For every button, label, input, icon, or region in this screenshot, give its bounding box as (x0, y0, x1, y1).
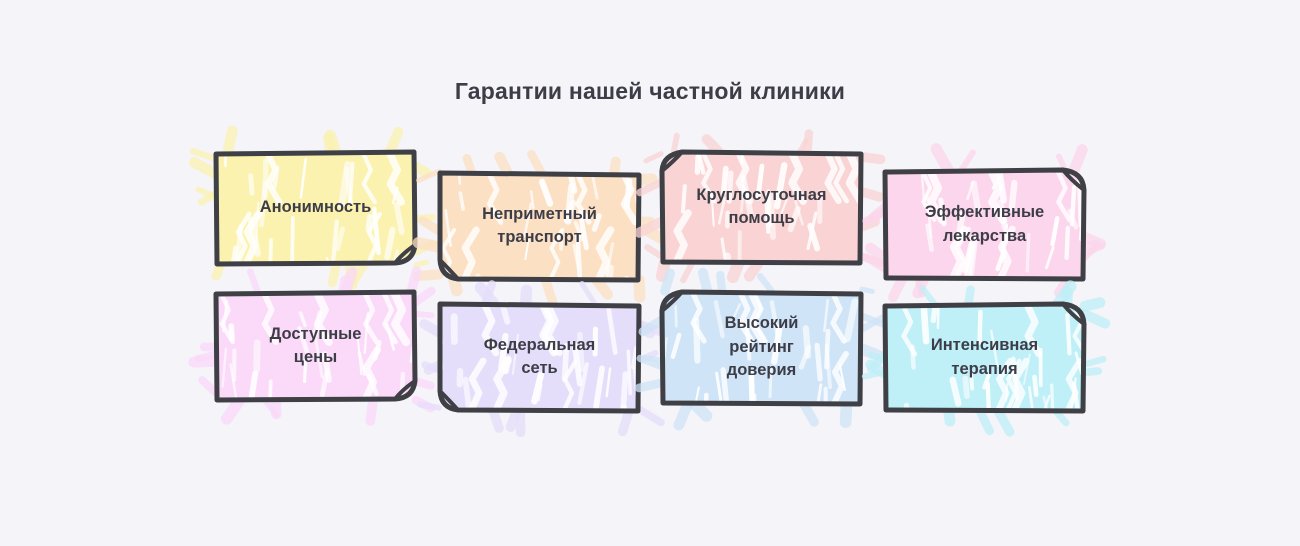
page-title: Гарантии нашей частной клиники (0, 78, 1300, 105)
guarantee-card-affordable-prices: Доступные цены (213, 290, 418, 402)
card-label: Федеральная сеть (437, 301, 642, 413)
card-label: Эффективные лекарства (882, 168, 1087, 281)
guarantee-card-high-trust-rating: Высокий рейтинг доверия (659, 289, 864, 406)
card-label: Высокий рейтинг доверия (659, 289, 864, 406)
guarantee-card-intensive-therapy: Интенсивная терапия (882, 302, 1087, 413)
guarantee-card-discreet-transport: Неприметный транспорт (437, 170, 642, 282)
infographic-canvas: Гарантии нашей частной клиники Анонимнос… (0, 0, 1300, 546)
card-label: Неприметный транспорт (437, 170, 642, 282)
guarantee-card-round-the-clock-help: Круглосуточная помощь (659, 149, 864, 265)
guarantee-card-anonymity: Анонимность (213, 150, 418, 266)
guarantee-card-federal-network: Федеральная сеть (437, 301, 642, 413)
guarantee-card-effective-medicines: Эффективные лекарства (882, 168, 1087, 281)
card-label: Интенсивная терапия (882, 302, 1087, 413)
card-label: Круглосуточная помощь (659, 149, 864, 265)
card-label: Доступные цены (213, 290, 418, 402)
card-label: Анонимность (213, 150, 418, 266)
